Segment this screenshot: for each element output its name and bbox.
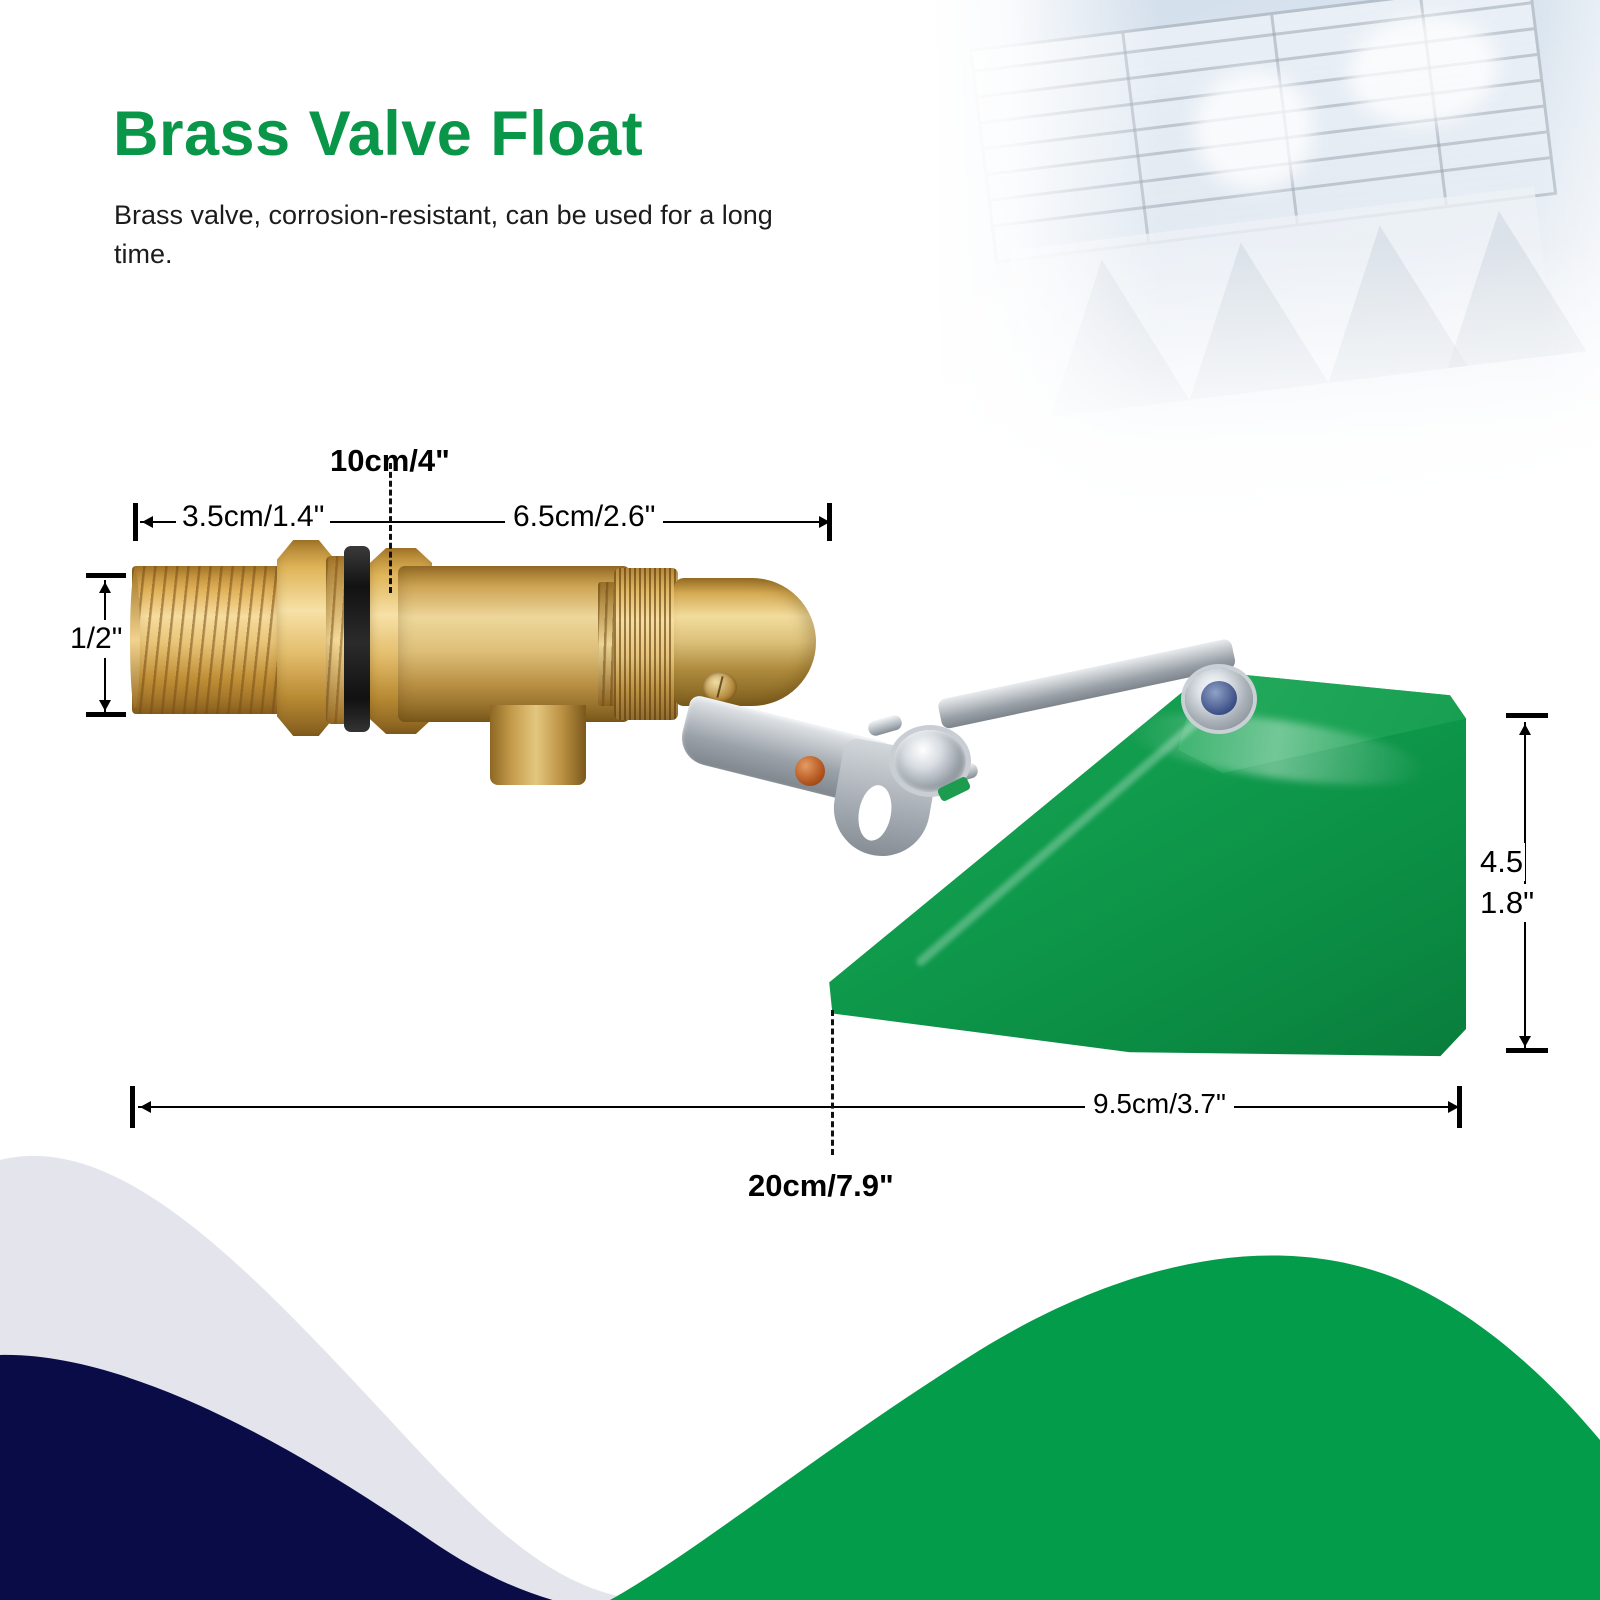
knurled-brass-cap — [614, 568, 678, 720]
black-rubber-washer — [344, 546, 370, 732]
brass-bullet-nose — [674, 578, 816, 706]
dimension-top-right-arrow — [819, 516, 830, 528]
infographic-canvas: Brass Valve Float Brass valve, corrosion… — [0, 0, 1600, 1600]
dimension-top-left-cap — [133, 503, 138, 541]
dimension-bottom-right-label: 9.5cm/3.7" — [1085, 1088, 1234, 1120]
dimension-left-label: 1/2" — [70, 620, 122, 658]
dimension-bottom-left-arrow — [140, 1101, 151, 1113]
dimension-top-right-label: 6.5cm/2.6" — [505, 500, 663, 534]
brass-outlet-port — [490, 705, 586, 785]
dimension-top-left-arrow — [142, 516, 153, 528]
brass-valve-body — [398, 566, 630, 722]
dimension-left-top-cap — [86, 573, 126, 578]
dimension-right-top-cap — [1506, 713, 1548, 718]
wave-green — [610, 1255, 1600, 1600]
dimension-bottom-right-arrow — [1448, 1101, 1459, 1113]
dimension-right-label-line2: 1.8" — [1478, 884, 1536, 922]
dimension-right-up-arrow — [1519, 724, 1531, 735]
dimension-right-label-line1: 4.5 — [1478, 843, 1525, 881]
dimension-left-down-arrow — [99, 700, 111, 711]
dimension-right-down-arrow — [1519, 1036, 1531, 1047]
dimension-bottom-line — [138, 1106, 1460, 1108]
dimension-left-up-arrow — [99, 582, 111, 593]
dimension-right-bottom-cap — [1506, 1048, 1548, 1053]
copper-rivet — [795, 756, 825, 786]
dimension-top-divider — [389, 463, 392, 593]
green-plastic-float — [826, 672, 1466, 1060]
steel-float-bolt — [1185, 668, 1253, 730]
dimension-top-left-label: 3.5cm/1.4" — [176, 500, 330, 534]
dimension-left-bottom-cap — [86, 712, 126, 717]
decorative-waves — [0, 1120, 1600, 1600]
threaded-brass-inlet — [132, 566, 282, 714]
